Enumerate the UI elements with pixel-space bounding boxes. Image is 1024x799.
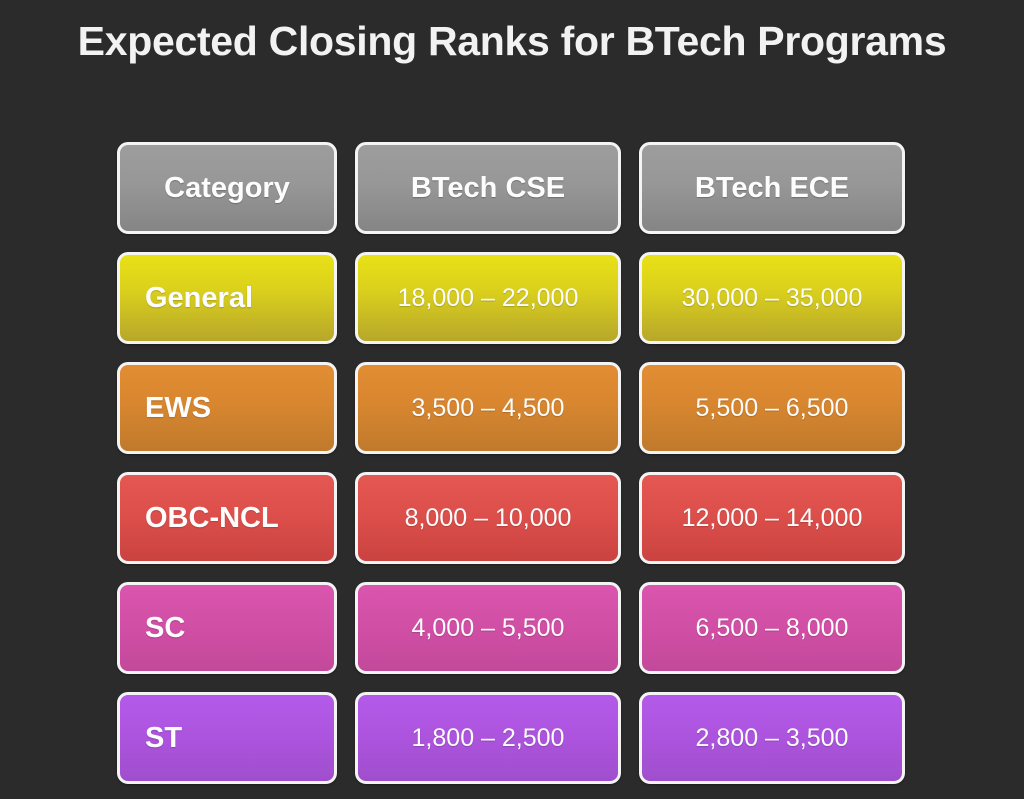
cell-ews-btech-ece: 5,500 – 6,500 bbox=[639, 362, 905, 454]
row-label-ews: EWS bbox=[117, 362, 337, 454]
column-header-btech-ece: BTech ECE bbox=[639, 142, 905, 234]
row-label-obc-ncl: OBC-NCL bbox=[117, 472, 337, 564]
table-header-row: Category BTech CSE BTech ECE bbox=[117, 142, 907, 234]
page-root: Expected Closing Ranks for BTech Program… bbox=[0, 0, 1024, 799]
cell-st-btech-cse: 1,800 – 2,500 bbox=[355, 692, 621, 784]
column-header-btech-cse: BTech CSE bbox=[355, 142, 621, 234]
cell-obc-ncl-btech-cse: 8,000 – 10,000 bbox=[355, 472, 621, 564]
cell-general-btech-ece: 30,000 – 35,000 bbox=[639, 252, 905, 344]
table-row: General 18,000 – 22,000 30,000 – 35,000 bbox=[117, 252, 907, 344]
cell-sc-btech-cse: 4,000 – 5,500 bbox=[355, 582, 621, 674]
table-row: EWS 3,500 – 4,500 5,500 – 6,500 bbox=[117, 362, 907, 454]
cell-obc-ncl-btech-ece: 12,000 – 14,000 bbox=[639, 472, 905, 564]
closing-ranks-table: Category BTech CSE BTech ECE General 18,… bbox=[117, 142, 907, 784]
table-row: ST 1,800 – 2,500 2,800 – 3,500 bbox=[117, 692, 907, 784]
table-row: SC 4,000 – 5,500 6,500 – 8,000 bbox=[117, 582, 907, 674]
column-header-category: Category bbox=[117, 142, 337, 234]
page-title: Expected Closing Ranks for BTech Program… bbox=[0, 18, 1024, 65]
cell-general-btech-cse: 18,000 – 22,000 bbox=[355, 252, 621, 344]
cell-st-btech-ece: 2,800 – 3,500 bbox=[639, 692, 905, 784]
cell-sc-btech-ece: 6,500 – 8,000 bbox=[639, 582, 905, 674]
row-label-sc: SC bbox=[117, 582, 337, 674]
row-label-general: General bbox=[117, 252, 337, 344]
table-row: OBC-NCL 8,000 – 10,000 12,000 – 14,000 bbox=[117, 472, 907, 564]
cell-ews-btech-cse: 3,500 – 4,500 bbox=[355, 362, 621, 454]
row-label-st: ST bbox=[117, 692, 337, 784]
